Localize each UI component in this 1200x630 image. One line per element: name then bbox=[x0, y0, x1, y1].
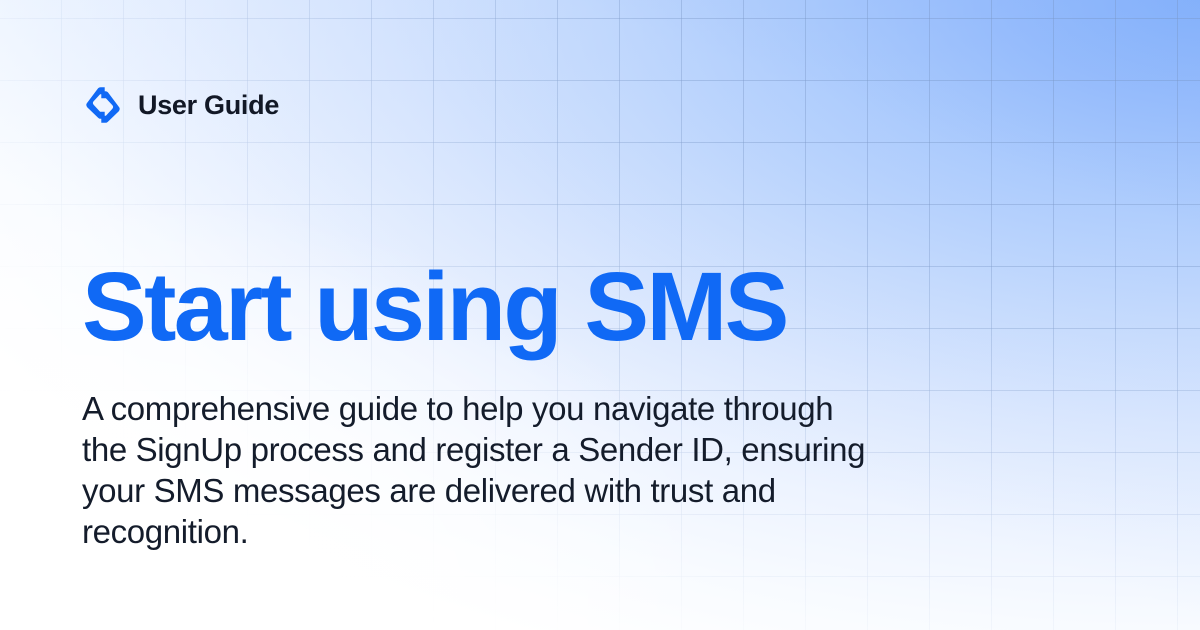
page-description: A comprehensive guide to help you naviga… bbox=[82, 388, 872, 552]
user-guide-hero-banner: User Guide Start using SMS A comprehensi… bbox=[0, 0, 1200, 630]
banner-content: User Guide Start using SMS A comprehensi… bbox=[0, 0, 1200, 630]
page-title: Start using SMS bbox=[82, 258, 787, 355]
brand-lockup: User Guide bbox=[82, 82, 279, 128]
brand-label: User Guide bbox=[138, 92, 279, 119]
code-brackets-icon bbox=[82, 84, 124, 126]
